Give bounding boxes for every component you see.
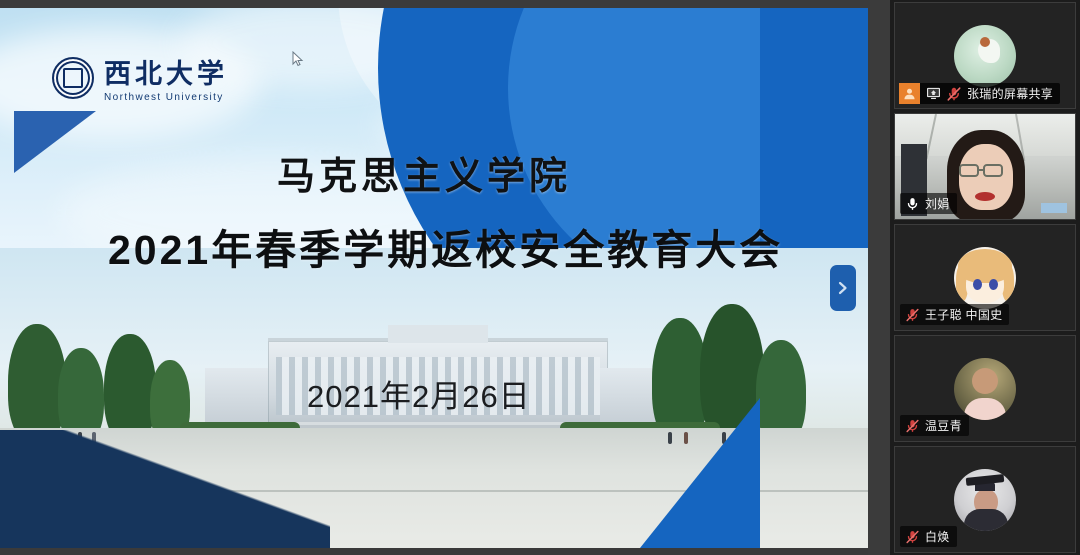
mic-active-icon xyxy=(904,196,920,212)
avatar xyxy=(954,247,1016,309)
video-person-lips xyxy=(975,192,995,201)
mic-muted-icon xyxy=(904,529,920,545)
participant-label: 温豆青 xyxy=(900,415,969,436)
avatar-eye xyxy=(989,279,998,290)
participant-label: 刘娟 xyxy=(900,193,957,214)
chevron-right-icon xyxy=(837,281,849,295)
participant-label: 张瑞的屏幕共享 xyxy=(899,83,1060,104)
participant-video-strip[interactable]: 张瑞的屏幕共享 xyxy=(890,0,1080,555)
avatar xyxy=(954,469,1016,531)
university-name-cn: 西北大学 xyxy=(104,52,228,91)
building-wing-left xyxy=(205,368,275,430)
avatar-hair xyxy=(958,249,1012,283)
avatar-eye xyxy=(973,279,982,290)
participant-name: 白焕 xyxy=(925,528,950,545)
slide-band-bottom-triangle xyxy=(640,398,760,548)
university-logo-text: 西北大学 Northwest University xyxy=(104,52,228,103)
university-name-en: Northwest University xyxy=(104,92,228,103)
participant-tile[interactable]: 刘娟 xyxy=(894,113,1076,220)
presentation-slide[interactable]: 公诚勤朴 西北大学 Northwest University 马克思主义学院 2… xyxy=(0,8,868,548)
video-person-glasses-bridge xyxy=(979,169,985,171)
video-person-glasses xyxy=(959,164,979,177)
slide-corner-dark xyxy=(0,430,330,548)
participant-tile[interactable]: 张瑞的屏幕共享 xyxy=(894,2,1076,109)
university-seal-icon xyxy=(52,57,94,99)
participant-tile[interactable]: 王子聪 中国史 xyxy=(894,224,1076,331)
participant-tile[interactable]: 温豆青 xyxy=(894,335,1076,442)
screen-share-icon xyxy=(925,86,941,102)
shared-screen-stage[interactable]: 公诚勤朴 西北大学 Northwest University 马克思主义学院 2… xyxy=(0,0,890,555)
slide-triangle-left xyxy=(14,111,96,173)
mic-muted-icon xyxy=(904,418,920,434)
participant-tile[interactable]: 白焕 xyxy=(894,446,1076,553)
video-background-object xyxy=(1041,203,1067,213)
zoom-meeting-window: 公诚勤朴 西北大学 Northwest University 马克思主义学院 2… xyxy=(0,0,1080,555)
participant-name: 张瑞的屏幕共享 xyxy=(967,85,1053,102)
stage-frame-right xyxy=(868,0,890,555)
participant-label: 王子聪 中国史 xyxy=(900,304,1009,325)
avatar-graduation-cap-icon xyxy=(966,474,1005,486)
slide-title-line2: 2021年春季学期返校安全教育大会 xyxy=(108,216,783,276)
mic-muted-icon xyxy=(904,307,920,323)
tree-decor xyxy=(8,324,66,444)
slide-date: 2021年2月26日 xyxy=(307,371,531,416)
mouse-cursor xyxy=(291,51,305,67)
avatar xyxy=(954,358,1016,420)
host-avatar-icon xyxy=(899,83,920,104)
mic-muted-icon xyxy=(946,86,962,102)
slide-title-line1: 马克思主义学院 xyxy=(277,145,571,200)
participant-name: 王子聪 中国史 xyxy=(925,306,1002,323)
avatar xyxy=(954,25,1016,87)
stage-frame-top xyxy=(0,0,890,8)
participant-label: 白焕 xyxy=(900,526,957,547)
expand-sidebar-button[interactable] xyxy=(830,265,856,311)
participant-name: 刘娟 xyxy=(925,195,950,212)
avatar-body xyxy=(964,509,1008,531)
video-person-glasses xyxy=(983,164,1003,177)
university-logo: 西北大学 Northwest University xyxy=(52,52,228,103)
participant-name: 温豆青 xyxy=(925,417,962,434)
